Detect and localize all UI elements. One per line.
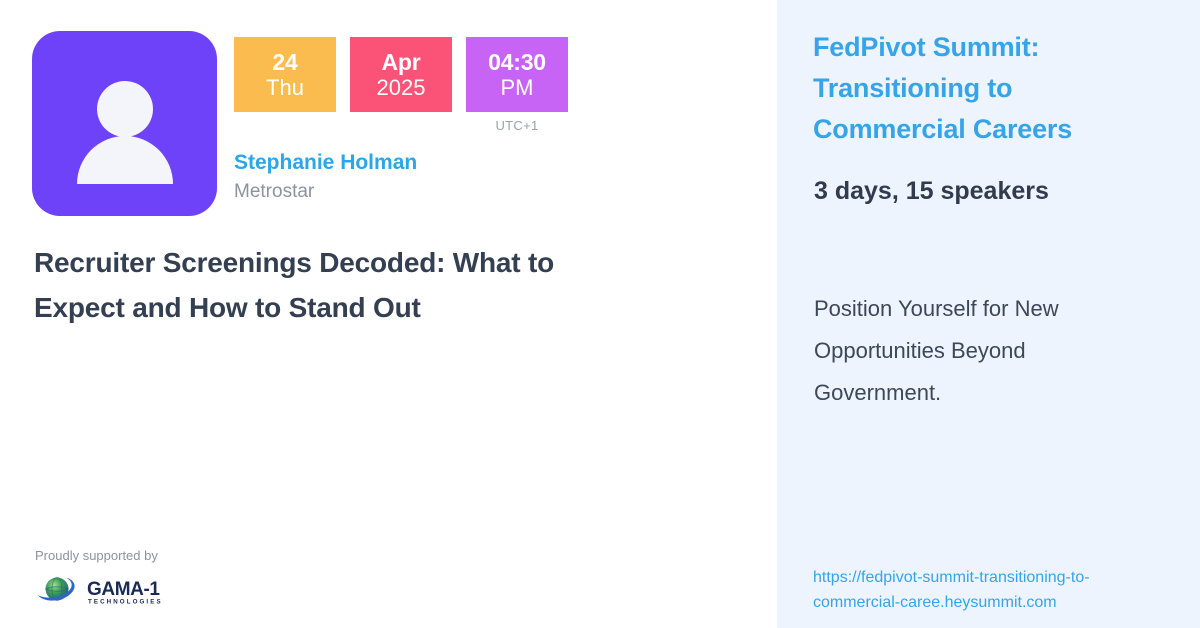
badge-meridiem: PM bbox=[501, 76, 534, 99]
svg-text:GAMA-1: GAMA-1 bbox=[87, 579, 160, 600]
person-avatar-icon bbox=[32, 31, 217, 216]
timezone-row: UTC+1 bbox=[234, 112, 568, 133]
speaker-company: Metrostar bbox=[234, 181, 568, 204]
date-badge-day: 24 Thu bbox=[234, 37, 336, 112]
event-promo-poster: 24 Thu Apr 2025 04:30 PM UTC+1 bbox=[0, 0, 1200, 628]
summit-description: Position Yourself for New Opportunities … bbox=[814, 288, 1144, 413]
summit-stats: 3 days, 15 speakers bbox=[814, 175, 1049, 208]
right-panel: FedPivot Summit: Transitioning to Commer… bbox=[777, 0, 1200, 628]
badge-clock-time: 04:30 bbox=[488, 50, 546, 74]
speaker-name: Stephanie Holman bbox=[234, 151, 568, 175]
date-badge-month: Apr 2025 bbox=[350, 37, 452, 112]
avatar-head-shape bbox=[97, 81, 153, 137]
gama-1-technologies-logo: GAMA-1 TECHNOLOGIES bbox=[35, 574, 177, 606]
timezone-spacer bbox=[234, 112, 466, 133]
date-time-badges: 24 Thu Apr 2025 04:30 PM bbox=[234, 37, 568, 112]
timezone-label: UTC+1 bbox=[466, 112, 568, 133]
summit-title: FedPivot Summit: Transitioning to Commer… bbox=[813, 27, 1153, 150]
badge-month-name: Apr bbox=[381, 50, 420, 74]
summit-url-link[interactable]: https://fedpivot-summit-transitioning-to… bbox=[813, 566, 1168, 616]
talk-title: Recruiter Screenings Decoded: What to Ex… bbox=[34, 240, 594, 331]
sponsor-label: Proudly supported by bbox=[35, 548, 177, 563]
sponsor-block: Proudly supported by GAMA-1 bbox=[35, 548, 177, 606]
speaker-meta: 24 Thu Apr 2025 04:30 PM UTC+1 bbox=[234, 31, 568, 204]
badge-year: 2025 bbox=[377, 76, 426, 99]
left-panel: 24 Thu Apr 2025 04:30 PM UTC+1 bbox=[0, 0, 777, 628]
svg-text:TECHNOLOGIES: TECHNOLOGIES bbox=[88, 599, 163, 606]
badge-day-number: 24 bbox=[272, 50, 297, 74]
date-badge-time: 04:30 PM bbox=[466, 37, 568, 112]
badge-weekday: Thu bbox=[266, 76, 304, 99]
avatar-body-shape bbox=[77, 136, 173, 184]
speaker-header-block: 24 Thu Apr 2025 04:30 PM UTC+1 bbox=[32, 31, 568, 216]
